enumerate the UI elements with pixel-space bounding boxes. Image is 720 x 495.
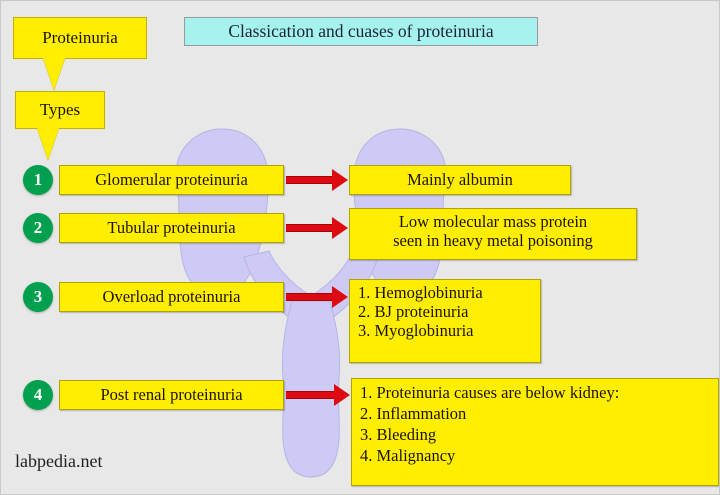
arrow-row-3	[286, 286, 348, 308]
callout-types-label: Types	[15, 91, 105, 129]
arrow-shaft	[286, 176, 333, 184]
cause-line: 3. Bleeding	[360, 424, 712, 445]
arrow-shaft	[286, 391, 335, 399]
cause-box-overload[interactable]: 1. Hemoglobinuria 2. BJ proteinuria 3. M…	[349, 279, 541, 363]
type-box-glomerular[interactable]: Glomerular proteinuria	[59, 165, 284, 195]
cause-line: 1. Hemoglobinuria	[358, 283, 534, 302]
cause-box-post-renal[interactable]: 1. Proteinuria causes are below kidney: …	[351, 378, 719, 486]
number-badge-4: 4	[23, 380, 53, 410]
cause-line: 2. Inflammation	[360, 403, 712, 424]
type-box-tubular[interactable]: Tubular proteinuria	[59, 213, 284, 243]
cause-line: 2. BJ proteinuria	[358, 302, 534, 321]
arrow-shaft	[286, 293, 333, 301]
cause-box-glomerular[interactable]: Mainly albumin	[349, 165, 571, 195]
cause-line: seen in heavy metal poisoning	[356, 231, 630, 250]
arrow-head	[332, 169, 348, 191]
diagram-canvas: Classication and cuases of proteinuria P…	[0, 0, 720, 495]
watermark-labpedia: labpedia.net	[15, 451, 102, 472]
arrow-row-2	[286, 217, 348, 239]
cause-line: 3. Myoglobinuria	[358, 321, 534, 340]
page-title: Classication and cuases of proteinuria	[184, 17, 538, 46]
callout-proteinuria-label: Proteinuria	[13, 17, 147, 59]
number-badge-1: 1	[23, 165, 53, 195]
arrow-head	[332, 286, 348, 308]
arrow-head	[332, 217, 348, 239]
callout-proteinuria-tail	[43, 58, 65, 90]
arrow-head	[334, 384, 350, 406]
arrow-row-1	[286, 169, 348, 191]
arrow-row-4	[286, 384, 350, 406]
cause-box-tubular[interactable]: Low molecular mass protein seen in heavy…	[349, 208, 637, 260]
callout-types-tail	[37, 128, 59, 160]
type-box-post-renal[interactable]: Post renal proteinuria	[59, 380, 284, 410]
cause-line: 1. Proteinuria causes are below kidney:	[360, 382, 712, 403]
cause-line: 4. Malignancy	[360, 445, 712, 466]
cause-line: Low molecular mass protein	[356, 212, 630, 231]
number-badge-3: 3	[23, 282, 53, 312]
number-badge-2: 2	[23, 213, 53, 243]
arrow-shaft	[286, 224, 333, 232]
type-box-overload[interactable]: Overload proteinuria	[59, 282, 284, 312]
